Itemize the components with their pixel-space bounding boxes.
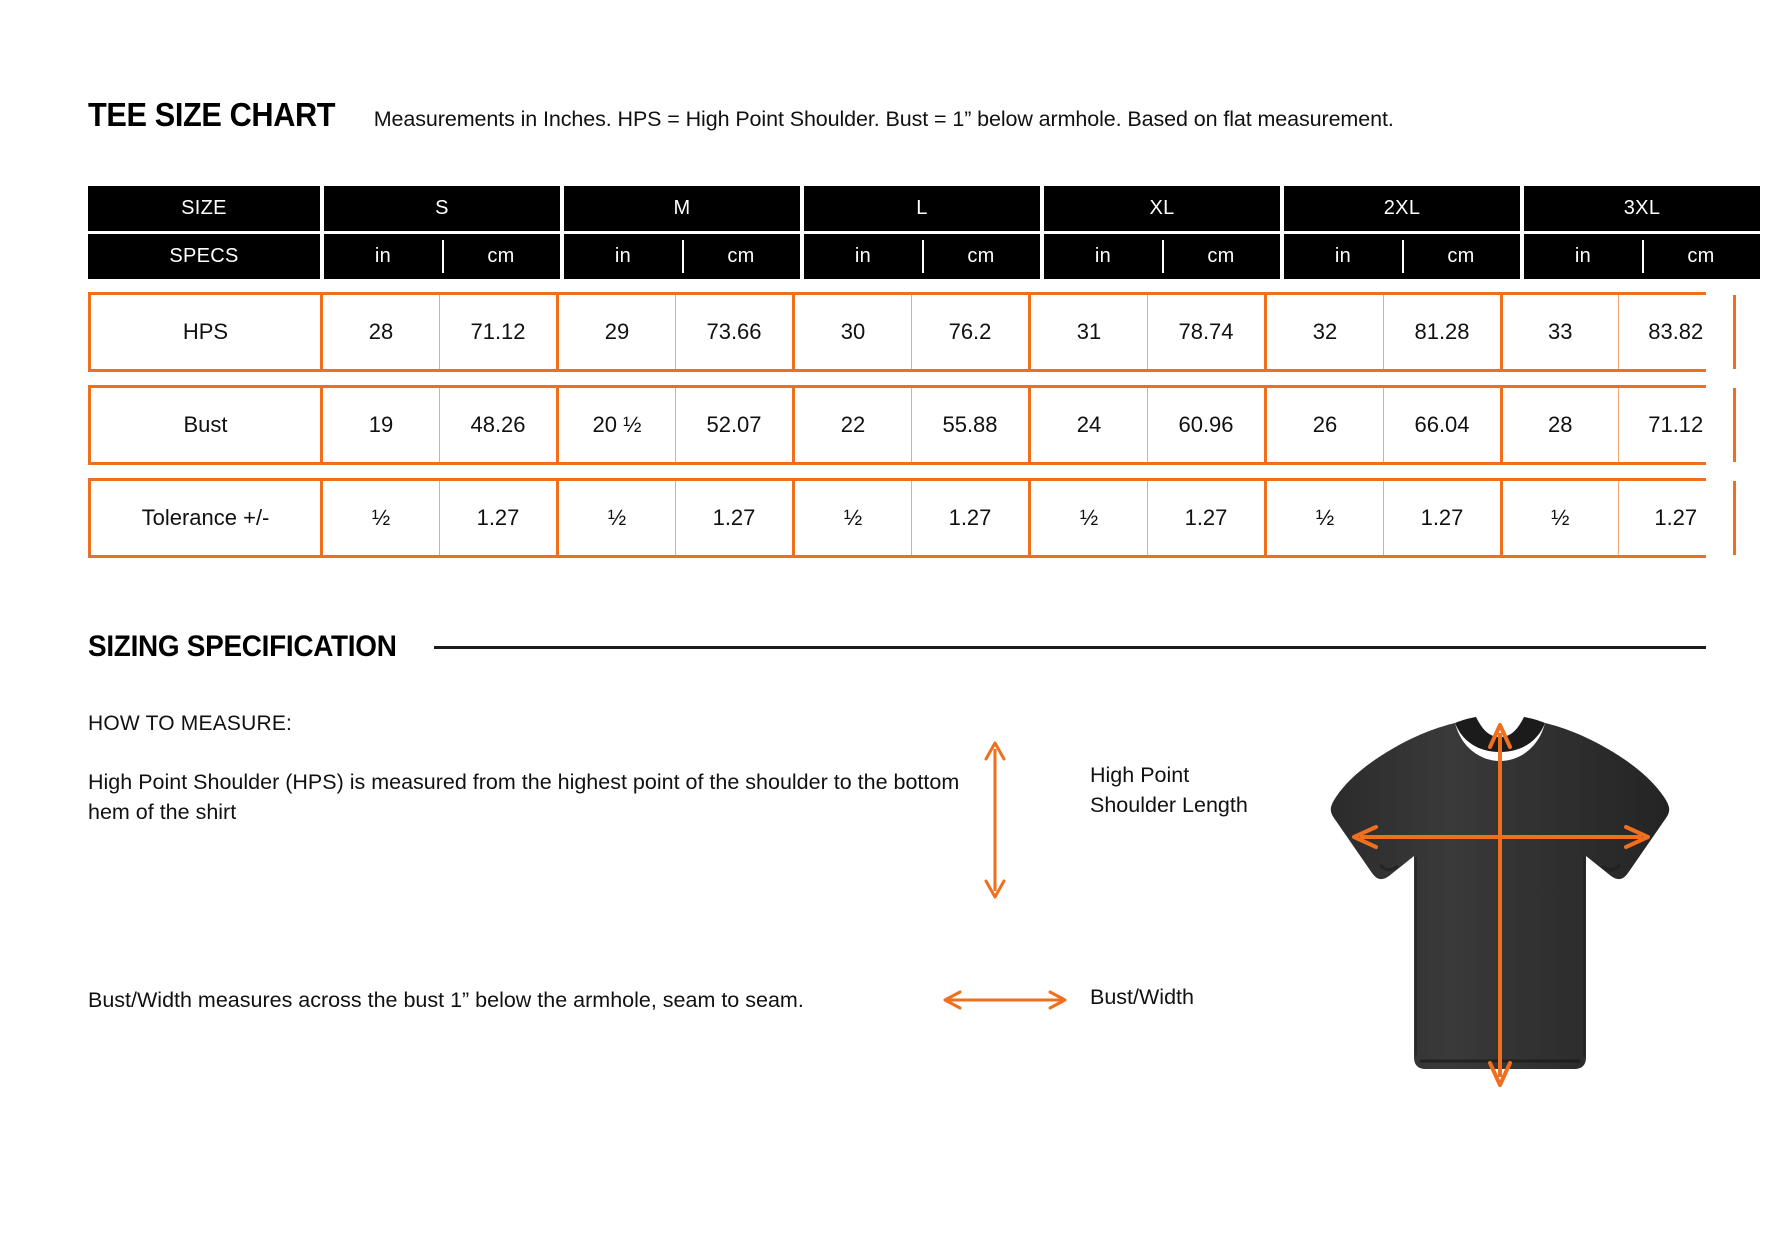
header-block-size-4: 2XL (1284, 186, 1520, 231)
table-header-size-row: SIZE S M L XL 2XL 3XL (88, 186, 1706, 231)
header-unit-cm-m: cm (682, 234, 800, 279)
cell-hps-3xl-in: 33 (1503, 295, 1618, 369)
header-block-units-0: in cm (324, 234, 560, 279)
hps-description: High Point Shoulder (HPS) is measured fr… (88, 767, 968, 827)
row-label-tolerance: Tolerance +/- (91, 481, 320, 555)
cell-bust-l-cm: 55.88 (911, 388, 1028, 462)
cell-tolerance-xl-cm: 1.27 (1147, 481, 1264, 555)
cell-group-hps-s: 28 71.12 (320, 295, 556, 369)
cell-hps-l-cm: 76.2 (911, 295, 1028, 369)
header-size-xl: XL (1044, 186, 1280, 231)
row-label-group-tolerance: Tolerance +/- (88, 481, 320, 555)
header-unit-in-2xl: in (1284, 234, 1402, 279)
cell-bust-xl-cm: 60.96 (1147, 388, 1264, 462)
header-block-units-4: in cm (1284, 234, 1520, 279)
cell-bust-l-in: 22 (795, 388, 911, 462)
cell-hps-2xl-cm: 81.28 (1383, 295, 1500, 369)
header-unit-cm-s: cm (442, 234, 560, 279)
cell-group-hps-l: 30 76.2 (792, 295, 1028, 369)
cell-group-tolerance-2xl: ½ 1.27 (1264, 481, 1500, 555)
cell-group-tolerance-l: ½ 1.27 (792, 481, 1028, 555)
cell-group-hps-xl: 31 78.74 (1028, 295, 1264, 369)
page-title: TEE SIZE CHART (88, 96, 335, 134)
header-block-units-2: in cm (804, 234, 1040, 279)
header-size-l: L (804, 186, 1040, 231)
header-block-units-1: in cm (564, 234, 800, 279)
size-chart-page: TEE SIZE CHART Measurements in Inches. H… (0, 0, 1775, 1242)
cell-bust-3xl-cm: 71.12 (1618, 388, 1734, 462)
cell-group-bust-l: 22 55.88 (792, 388, 1028, 462)
tshirt-illustration (1320, 705, 1680, 1135)
cell-bust-s-in: 19 (323, 388, 439, 462)
cell-group-bust-3xl: 28 71.12 (1500, 388, 1736, 462)
header-size-3xl: 3XL (1524, 186, 1760, 231)
cell-group-tolerance-s: ½ 1.27 (320, 481, 556, 555)
sizing-specification-section: SIZING SPECIFICATION (88, 630, 1706, 664)
row-label-group-bust: Bust (88, 388, 320, 462)
cell-bust-s-cm: 48.26 (439, 388, 556, 462)
header-block-units-5: in cm (1524, 234, 1760, 279)
header-unit-cm-xl: cm (1162, 234, 1280, 279)
cell-bust-xl-in: 24 (1031, 388, 1147, 462)
header-block-size-label: SIZE (88, 186, 320, 231)
header-unit-in-3xl: in (1524, 234, 1642, 279)
cell-group-hps-3xl: 33 83.82 (1500, 295, 1736, 369)
cell-tolerance-3xl-in: ½ (1503, 481, 1618, 555)
cell-group-tolerance-3xl: ½ 1.27 (1500, 481, 1736, 555)
cell-bust-3xl-in: 28 (1503, 388, 1618, 462)
table-row-hps: HPS 28 71.12 29 73.66 30 76.2 31 78.74 3… (88, 292, 1706, 372)
header-unit-in-m: in (564, 234, 682, 279)
cell-hps-l-in: 30 (795, 295, 911, 369)
row-label-hps: HPS (91, 295, 320, 369)
header-block-size-0: S (324, 186, 560, 231)
cell-group-hps-m: 29 73.66 (556, 295, 792, 369)
cell-group-tolerance-m: ½ 1.27 (556, 481, 792, 555)
header-size-2xl: 2XL (1284, 186, 1520, 231)
row-label-group-hps: HPS (88, 295, 320, 369)
cell-tolerance-m-cm: 1.27 (675, 481, 792, 555)
header-unit-cm-3xl: cm (1642, 234, 1760, 279)
cell-tolerance-s-cm: 1.27 (439, 481, 556, 555)
cell-group-bust-m: 20 ½ 52.07 (556, 388, 792, 462)
cell-group-tolerance-xl: ½ 1.27 (1028, 481, 1264, 555)
header-block-size-3: XL (1044, 186, 1280, 231)
horizontal-double-arrow-icon (940, 985, 1070, 1015)
header-size-label: SIZE (88, 186, 320, 231)
header-block-size-2: L (804, 186, 1040, 231)
cell-group-bust-2xl: 26 66.04 (1264, 388, 1500, 462)
cell-bust-m-in: 20 ½ (559, 388, 675, 462)
header-block-specs-label: SPECS (88, 234, 320, 279)
header-specs-label: SPECS (88, 234, 320, 279)
size-chart-table: SIZE S M L XL 2XL 3XL SPECS (88, 186, 1706, 558)
section-divider (434, 646, 1706, 649)
cell-hps-xl-in: 31 (1031, 295, 1147, 369)
header-unit-in-l: in (804, 234, 922, 279)
cell-hps-m-cm: 73.66 (675, 295, 792, 369)
header-unit-cm-l: cm (922, 234, 1040, 279)
header-unit-in-xl: in (1044, 234, 1162, 279)
section-title: SIZING SPECIFICATION (88, 630, 397, 664)
bust-arrow-label: Bust/Width (1090, 985, 1194, 1010)
page-header: TEE SIZE CHART Measurements in Inches. H… (88, 96, 1394, 134)
cell-hps-2xl-in: 32 (1267, 295, 1383, 369)
cell-hps-s-cm: 71.12 (439, 295, 556, 369)
page-subtitle: Measurements in Inches. HPS = High Point… (374, 107, 1394, 132)
header-block-units-3: in cm (1044, 234, 1280, 279)
cell-tolerance-s-in: ½ (323, 481, 439, 555)
cell-group-hps-2xl: 32 81.28 (1264, 295, 1500, 369)
cell-hps-3xl-cm: 83.82 (1618, 295, 1734, 369)
cell-tolerance-2xl-cm: 1.27 (1383, 481, 1500, 555)
cell-group-bust-s: 19 48.26 (320, 388, 556, 462)
header-unit-in-s: in (324, 234, 442, 279)
header-block-size-1: M (564, 186, 800, 231)
cell-tolerance-2xl-in: ½ (1267, 481, 1383, 555)
cell-bust-2xl-in: 26 (1267, 388, 1383, 462)
hps-arrow-label: High Point Shoulder Length (1090, 760, 1248, 820)
cell-tolerance-l-in: ½ (795, 481, 911, 555)
header-unit-cm-2xl: cm (1402, 234, 1520, 279)
cell-tolerance-xl-in: ½ (1031, 481, 1147, 555)
cell-tolerance-m-in: ½ (559, 481, 675, 555)
cell-bust-m-cm: 52.07 (675, 388, 792, 462)
hps-arrow-label-line2: Shoulder Length (1090, 790, 1248, 820)
table-row-bust: Bust 19 48.26 20 ½ 52.07 22 55.88 24 60.… (88, 385, 1706, 465)
cell-hps-m-in: 29 (559, 295, 675, 369)
hps-arrow-label-line1: High Point (1090, 760, 1248, 790)
how-to-measure-heading: HOW TO MEASURE: (88, 712, 292, 736)
table-header-specs-row: SPECS in cm in cm in cm in cm in cm (88, 234, 1706, 279)
table-row-tolerance: Tolerance +/- ½ 1.27 ½ 1.27 ½ 1.27 ½ 1.2… (88, 478, 1706, 558)
cell-group-bust-xl: 24 60.96 (1028, 388, 1264, 462)
row-label-bust: Bust (91, 388, 320, 462)
cell-bust-2xl-cm: 66.04 (1383, 388, 1500, 462)
header-size-s: S (324, 186, 560, 231)
cell-tolerance-l-cm: 1.27 (911, 481, 1028, 555)
vertical-double-arrow-icon (975, 735, 1015, 905)
cell-tolerance-3xl-cm: 1.27 (1618, 481, 1734, 555)
header-size-m: M (564, 186, 800, 231)
header-block-size-5: 3XL (1524, 186, 1760, 231)
cell-hps-xl-cm: 78.74 (1147, 295, 1264, 369)
cell-hps-s-in: 28 (323, 295, 439, 369)
bust-description: Bust/Width measures across the bust 1” b… (88, 985, 908, 1015)
